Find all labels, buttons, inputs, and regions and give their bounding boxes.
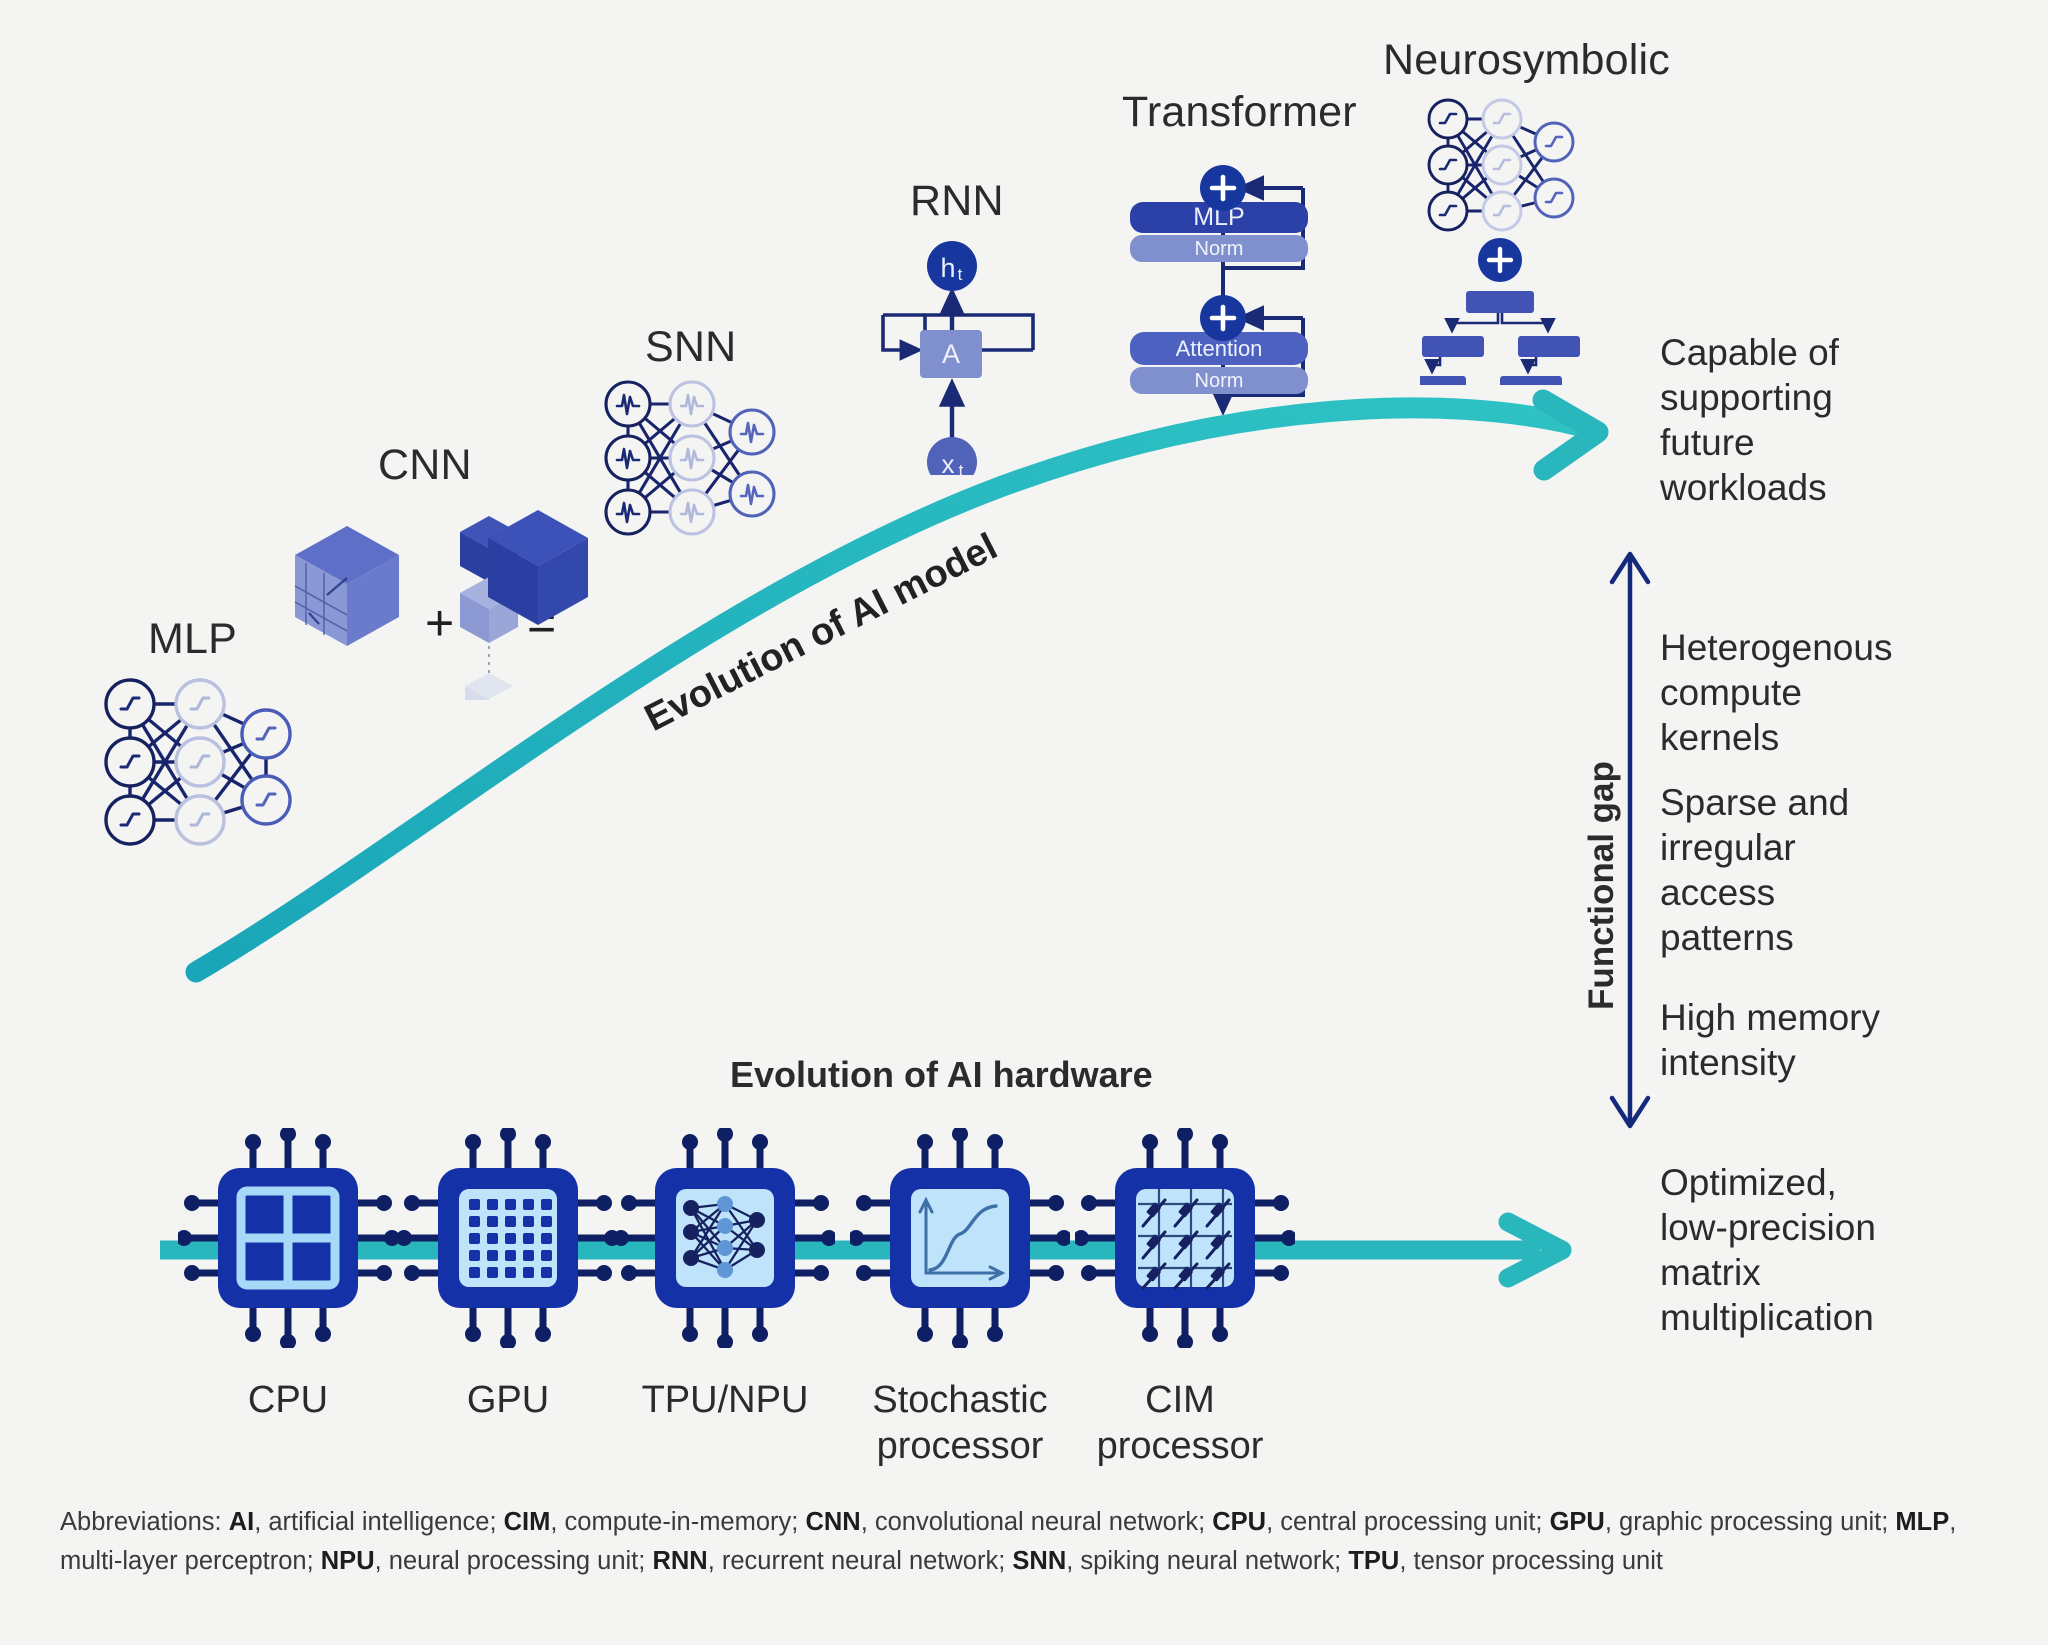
abbrev-term-rnn: RNN bbox=[652, 1547, 707, 1575]
note-capable-future-workloads: Capable of supporting future workloads bbox=[1660, 330, 1839, 511]
abbrev-def-cnn: , convolutional neural network; bbox=[861, 1508, 1213, 1536]
abbrev-def-gpu: , graphic processing unit; bbox=[1605, 1508, 1896, 1536]
gap-item-heterogenous: Heterogenous compute kernels bbox=[1660, 625, 1892, 760]
abbreviations-footer: Abbreviations: AI, artificial intelligen… bbox=[60, 1503, 2020, 1581]
abbrev-term-gpu: GPU bbox=[1550, 1508, 1605, 1536]
gap-item-sparse-irregular: Sparse and irregular access patterns bbox=[1660, 780, 1849, 961]
abbrev-def-rnn: , recurrent neural network; bbox=[708, 1547, 1013, 1575]
abbrev-def-cpu: , central processing unit; bbox=[1266, 1508, 1549, 1536]
abbrev-term-snn: SNN bbox=[1012, 1547, 1066, 1575]
hardware-label-cim: CIM processor bbox=[1040, 1378, 1320, 1469]
note-optimized-low-precision: Optimized, low-precision matrix multipli… bbox=[1660, 1160, 1876, 1341]
abbrev-def-ai: , artificial intelligence; bbox=[254, 1508, 503, 1536]
abbrev-def-cim: , compute-in-memory; bbox=[550, 1508, 805, 1536]
hardware-label-tpu-npu: TPU/NPU bbox=[605, 1378, 845, 1424]
abbrev-lead: Abbreviations: bbox=[60, 1508, 229, 1536]
abbrev-term-cnn: CNN bbox=[805, 1508, 860, 1536]
functional-gap-label: Functional gap bbox=[1582, 761, 1622, 1010]
abbrev-term-mlp: MLP bbox=[1895, 1508, 1949, 1536]
stochastic-chip-icon bbox=[850, 1128, 1070, 1348]
abbrev-term-cpu: CPU bbox=[1212, 1508, 1266, 1536]
abbrev-def-tpu: , tensor processing unit bbox=[1399, 1547, 1663, 1575]
abbrev-def-snn: , spiking neural network; bbox=[1066, 1547, 1348, 1575]
abbrev-term-tpu: TPU bbox=[1348, 1547, 1399, 1575]
abbrev-def-npu: , neural processing unit; bbox=[375, 1547, 653, 1575]
abbrev-term-cim: CIM bbox=[504, 1508, 551, 1536]
figure-canvas: MLP CNN SNN RNN Transformer Neurosymboli… bbox=[0, 0, 2048, 1645]
cpu-chip-icon bbox=[178, 1128, 398, 1348]
gap-item-high-memory: High memory intensity bbox=[1660, 995, 1880, 1085]
tpu-npu-chip-icon bbox=[615, 1128, 835, 1348]
evolution-of-ai-hardware-title: Evolution of AI hardware bbox=[730, 1054, 1153, 1096]
hardware-label-gpu: GPU bbox=[418, 1378, 598, 1424]
abbrev-term-npu: NPU bbox=[321, 1547, 375, 1575]
hardware-label-cpu: CPU bbox=[198, 1378, 378, 1424]
gpu-chip-icon bbox=[398, 1128, 618, 1348]
abbrev-term-ai: AI bbox=[229, 1508, 255, 1536]
cim-chip-icon bbox=[1075, 1128, 1295, 1348]
